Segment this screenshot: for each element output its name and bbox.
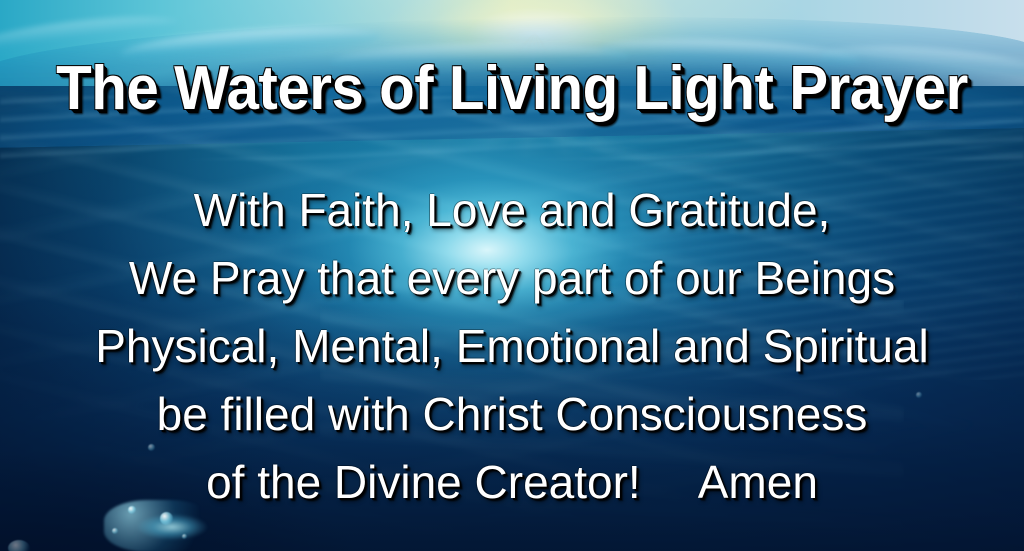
prayer-poster: The Waters of Living Light Prayer With F… [0, 0, 1024, 551]
air-bubble [112, 528, 118, 534]
prayer-line: be filled with Christ Consciousness [0, 380, 1024, 448]
page-title: The Waters of Living Light Prayer [31, 58, 994, 120]
prayer-closing-line: of the Divine Creator! Amen [0, 448, 1024, 516]
amen-text: Amen [698, 456, 818, 508]
prayer-line: Physical, Mental, Emotional and Spiritua… [0, 312, 1024, 380]
prayer-line: With Faith, Love and Gratitude, [0, 176, 1024, 244]
prayer-line: We Pray that every part of our Beings [0, 244, 1024, 312]
prayer-text-block: With Faith, Love and Gratitude, We Pray … [0, 176, 1024, 516]
air-bubble [182, 534, 187, 539]
closing-text: of the Divine Creator! [206, 456, 641, 508]
air-bubble [8, 540, 30, 551]
